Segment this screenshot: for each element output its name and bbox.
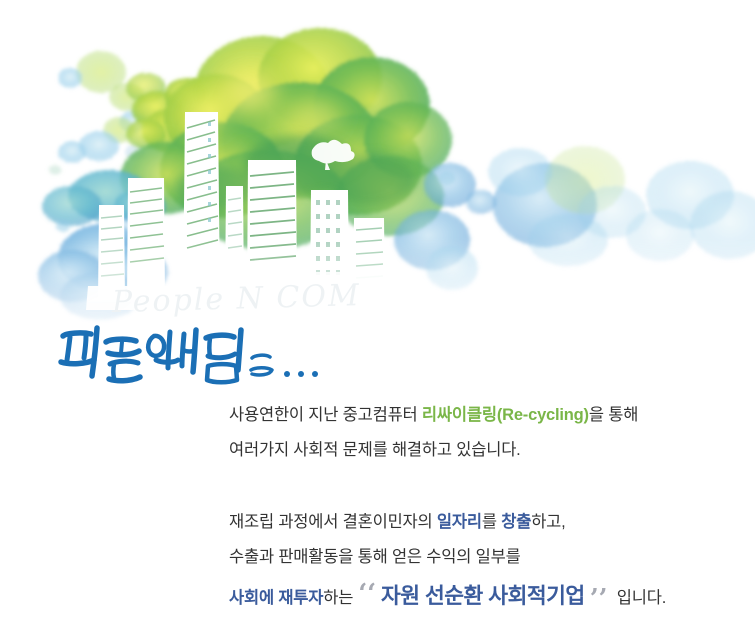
white-tree-mark [312, 140, 355, 170]
text-run: 수출과 판매활동을 통해 얻은 수익의 일부를 [229, 548, 521, 566]
text-run: 을 통해 [589, 406, 638, 424]
highlight-create: 창출 [501, 513, 531, 531]
watercolor-blob-cluster-mid-left [126, 78, 226, 153]
quote-open-icon: ‘‘ [353, 579, 381, 609]
text-run: 여러가지 사회적 문제를 해결하고 있습니다. [229, 441, 521, 459]
watercolor-blob-cluster-upper-left [58, 51, 166, 163]
paragraph-2-line-1: 재조립 과정에서 결혼이민자의 일자리를 창출하고, [229, 505, 749, 540]
quote-close-icon: ’’ [585, 584, 613, 614]
text-run: 사용연한이 지난 중고컴퓨터 [229, 406, 422, 424]
building-left-slab [127, 178, 165, 300]
paragraph-2: 재조립 과정에서 결혼이민자의 일자리를 창출하고, 수출과 판매활동을 통해 … [229, 505, 749, 618]
paragraph-1-line-2: 여러가지 사회적 문제를 해결하고 있습니다. [229, 433, 749, 468]
highlight-recycling: 리싸이클링(Re-cycling) [422, 406, 589, 424]
paragraph-1: 사용연한이 지난 중고컴퓨터 리싸이클링(Re-cycling)을 통해 여러가… [229, 398, 749, 468]
text-run: 하고, [531, 513, 565, 531]
paragraph-1-line-1: 사용연한이 지난 중고컴퓨터 리싸이클링(Re-cycling)을 통해 [229, 398, 749, 433]
building-right-slab [247, 160, 297, 300]
building-tower-main [183, 112, 220, 300]
watercolor-foliage-shadow [176, 135, 416, 210]
text-run: 하는 [323, 589, 353, 607]
paragraph-2-line-2: 수출과 판매활동을 통해 얻은 수익의 일부를 [229, 540, 749, 575]
watercolor-speckles [49, 165, 455, 232]
highlight-reinvest: 사회에 재투자 [229, 589, 323, 607]
watercolor-yellow-glow [182, 66, 346, 140]
page-title: 피플앤컴은... [56, 322, 356, 386]
paragraph-2-line-3: 사회에 재투자하는‘‘자원 선순환 사회적기업’’ 입니다. [229, 575, 749, 618]
body-copy: 사용연한이 지난 중고컴퓨터 리싸이클링(Re-cycling)을 통해 여러가… [229, 398, 749, 618]
text-run: 재조립 과정에서 결혼이민자의 [229, 513, 437, 531]
text-run: 입니다. [612, 589, 666, 607]
text-run: 를 [482, 513, 501, 531]
watercolor-blob-cluster-right-blue [394, 146, 646, 290]
watercolor-foliage-canopy [120, 28, 452, 250]
highlight-jobs: 일자리 [437, 513, 482, 531]
watercolor-blob-right-edge [626, 161, 755, 261]
highlight-slogan: 자원 선순환 사회적기업 [381, 584, 585, 608]
